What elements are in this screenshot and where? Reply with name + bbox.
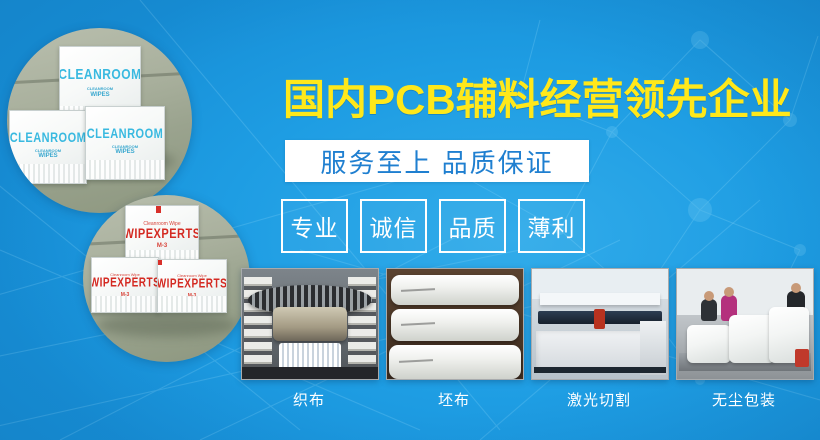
process-thumbnail-cleanroom-packing: 无尘包装 — [676, 268, 812, 410]
feature-tag-label: 品质 — [449, 209, 497, 243]
process-thumbnail-greige-fabric: 坯布 — [386, 268, 522, 410]
process-thumbnail-weaving: 织布 — [241, 268, 377, 410]
wipexperts-pack: Cleanroom Wipe WIPEXPERTS M-3 — [125, 205, 199, 265]
subtitle-text: 服务至上 品质保证 — [320, 143, 553, 180]
cleanroom-pack: CLEANROOM CLEANROOM WIPES — [85, 106, 165, 180]
feature-tag-zhuanye: 专业 — [281, 199, 348, 253]
process-caption: 无尘包装 — [676, 389, 812, 410]
process-photo-weaving — [241, 268, 379, 380]
promo-banner: CLEANROOM CLEANROOM WIPES CLEANROOM CLEA… — [0, 0, 820, 440]
feature-tag-label: 诚信 — [370, 209, 418, 243]
feature-tag-pinzhi: 品质 — [439, 199, 506, 253]
process-caption: 坯布 — [386, 389, 522, 410]
product-photo-circle-cleanroom: CLEANROOM CLEANROOM WIPES CLEANROOM CLEA… — [7, 28, 192, 213]
cleanroom-pack: CLEANROOM CLEANROOM WIPES — [9, 110, 87, 184]
wipexperts-pack: Cleanroom Wipe WIPEXPERTS M-3 — [91, 257, 159, 313]
headline-title: 国内PCB辅料经营领先企业 — [283, 74, 783, 126]
feature-tag-label: 薄利 — [528, 209, 576, 243]
product-photo-circle-wipexperts: Cleanroom Wipe WIPEXPERTS M-3 Cleanroom … — [83, 195, 250, 362]
subtitle-bar: 服务至上 品质保证 — [285, 140, 589, 182]
process-thumbnail-list: 织布 坯布 — [241, 268, 812, 410]
feature-tag-list: 专业 诚信 品质 薄利 — [281, 199, 585, 253]
feature-tag-label: 专业 — [291, 209, 339, 243]
wipexperts-pack: Cleanroom Wipe WIPEXPERTS M-3 — [157, 259, 227, 313]
process-photo-laser-cutting — [531, 268, 669, 380]
process-thumbnail-laser-cutting: 激光切割 — [531, 268, 667, 410]
feature-tag-chengxin: 诚信 — [360, 199, 427, 253]
process-caption: 激光切割 — [531, 389, 667, 410]
process-caption: 织布 — [241, 389, 377, 410]
feature-tag-baoli: 薄利 — [518, 199, 585, 253]
process-photo-greige-fabric — [386, 268, 524, 380]
process-photo-cleanroom-packing — [676, 268, 814, 380]
